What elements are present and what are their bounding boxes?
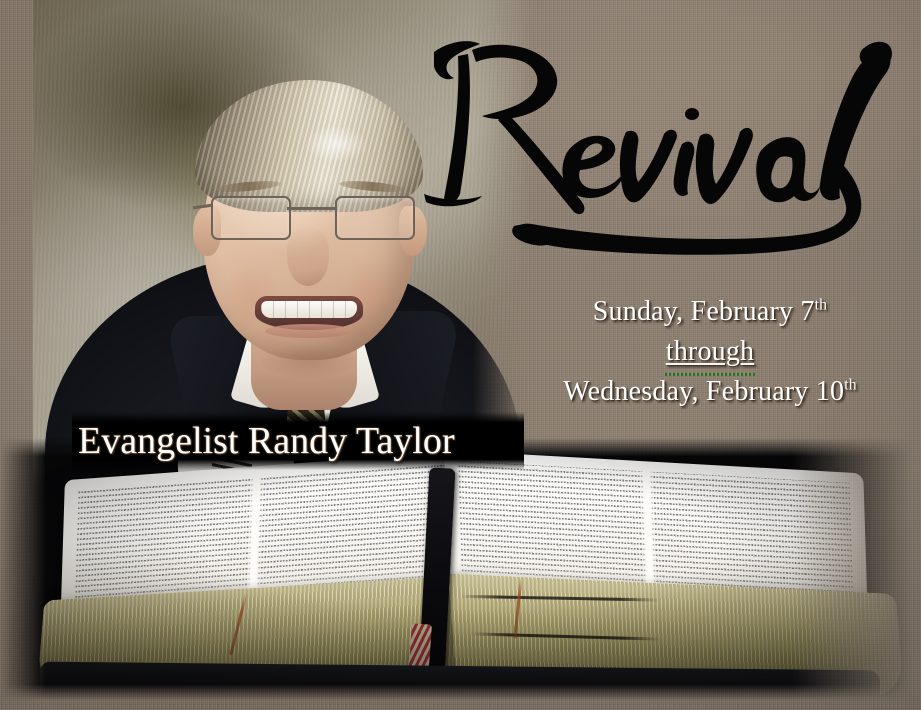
date-start-suffix: th: [815, 297, 828, 314]
open-bible-photo: [0, 438, 921, 700]
lower-lip: [265, 324, 353, 338]
forehead-highlight: [305, 126, 367, 162]
date-connector-text: through: [666, 332, 755, 372]
revival-headline-script: [424, 26, 894, 278]
evangelist-name: Evangelist Randy Taylor: [78, 414, 548, 468]
date-start-text: Sunday, February 7: [593, 296, 815, 327]
eyeglass-bridge: [287, 207, 335, 210]
page-stain-mark: [514, 577, 523, 639]
date-end-line: Wednesday, February 10th: [520, 372, 900, 412]
date-end-suffix: th: [844, 377, 857, 394]
date-start-line: Sunday, February 7th: [520, 292, 900, 332]
revival-dates: Sunday, February 7th through Wednesday, …: [520, 292, 900, 412]
page-stain-mark: [229, 593, 248, 655]
eyeglasses: [211, 196, 411, 240]
eyeglass-lens-right: [335, 196, 415, 240]
page-leaf-crease: [471, 632, 661, 640]
page-leaf-crease: [460, 595, 660, 602]
date-connector-line: through: [520, 332, 900, 372]
teeth: [261, 301, 357, 318]
chin-shadow: [261, 344, 357, 378]
date-end-text: Wednesday, February 10: [563, 376, 844, 407]
revival-flyer: Sunday, February 7th through Wednesday, …: [0, 0, 921, 710]
eyeglass-lens-left: [211, 196, 291, 240]
